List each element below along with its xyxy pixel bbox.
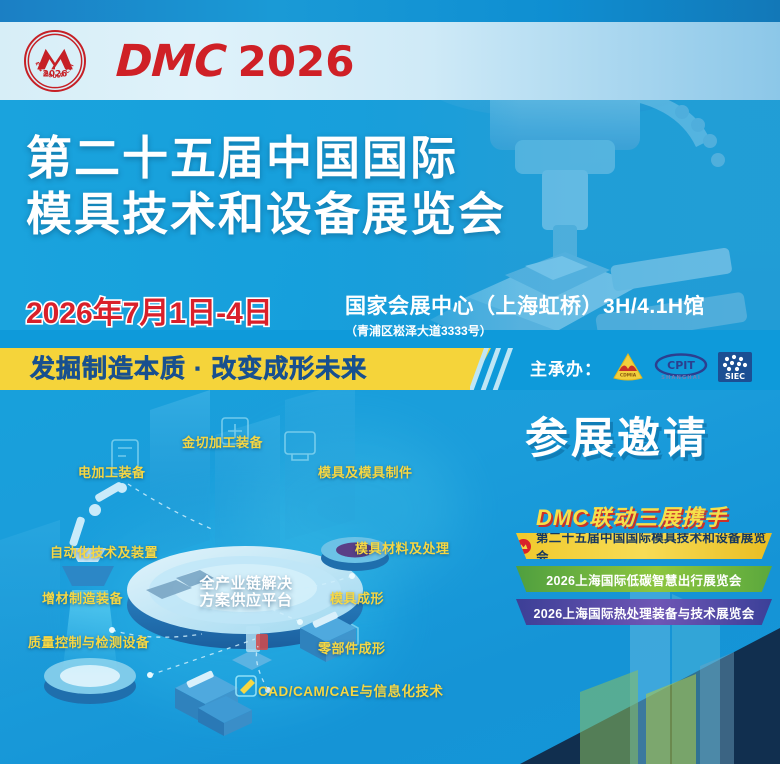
page-title: 第二十五届中国国际 模具技术和设备展览会	[26, 130, 506, 242]
headline-line-1: 第二十五届中国国际	[26, 130, 506, 186]
show-ribbon-low-carbon-label: 2026上海国际低碳智慧出行展览会	[546, 570, 741, 589]
organizers-row: 主承办： CDMIA CPIT SHANGHAI	[530, 352, 752, 382]
ccpit-shanghai-logo-icon: CPIT SHANGHAI	[654, 352, 708, 382]
svg-text:SIEC: SIEC	[725, 372, 745, 381]
tag-mould-forming: 模具成形	[330, 588, 384, 607]
tag-edm-equipment: 电加工装备	[78, 462, 146, 481]
event-info-bar: 2026年7月1日-4日 国家会展中心（上海虹桥）3H/4.1H馆 （青浦区崧泽…	[0, 282, 780, 344]
dmc-circular-logo-icon: 2026 DIE & MOULD CHINA	[24, 30, 86, 92]
show-ribbon-heat-treatment-label: 2026上海国际热处理装备与技术展览会	[533, 603, 754, 622]
tag-part-forming: 零部件成形	[318, 638, 386, 657]
dmc-wordmark-year: 2026	[238, 37, 355, 86]
dmc-wordmark: DMC 2026	[116, 36, 355, 87]
tag-metal-cutting-equipment: 金切加工装备	[182, 432, 263, 451]
platform-label-line-2: 方案供应平台	[176, 592, 316, 609]
tag-mould-materials: 模具材料及处理	[355, 538, 450, 557]
svg-text:CPIT: CPIT	[667, 359, 695, 372]
three-shows-title: DMC联动三展携手	[536, 500, 727, 532]
show-ribbon-dmc[interactable]: 第二十五届中国国际模具技术和设备展览会	[516, 533, 772, 559]
poster-header: 2026 DIE & MOULD CHINA DMC 2026	[0, 22, 780, 100]
dmc-wordmark-text: DMC	[115, 36, 227, 87]
organizers-label: 主承办：	[530, 355, 602, 380]
show-ribbon-low-carbon-mobility[interactable]: 2026上海国际低碳智慧出行展览会	[516, 566, 772, 592]
show-ribbon-heat-treatment[interactable]: 2026上海国际热处理装备与技术展览会	[516, 599, 772, 625]
venue-address: （青浦区崧泽大道3333号）	[345, 322, 705, 339]
slash-decoration	[470, 348, 530, 390]
svg-text:SHANGHAI: SHANGHAI	[661, 375, 701, 381]
siec-logo-icon: SIEC	[718, 352, 752, 382]
venue-name: 国家会展中心（上海虹桥）3H/4.1H馆	[345, 290, 705, 320]
slogan-text: 发掘制造本质 · 改变成形未来	[30, 349, 367, 389]
event-venue: 国家会展中心（上海虹桥）3H/4.1H馆 （青浦区崧泽大道3333号）	[345, 290, 705, 339]
event-date: 2026年7月1日-4日	[26, 288, 273, 332]
exhibition-poster: 2026 DIE & MOULD CHINA DMC 2026	[0, 0, 780, 764]
tag-cad-cam-cae: CAD/CAM/CAE与信息化技术	[258, 680, 444, 700]
tag-additive-manufacturing: 增材制造装备	[42, 588, 123, 607]
svg-text:CDMIA: CDMIA	[620, 373, 637, 379]
tag-automation-technology: 自动化技术及装置	[50, 542, 158, 561]
cdmia-logo-icon: CDMIA	[612, 352, 644, 382]
invitation-title: 参展邀请	[525, 404, 709, 466]
tag-mould-and-parts: 模具及模具制件	[318, 462, 413, 481]
tag-quality-inspection: 质量控制与检测设备	[28, 632, 150, 651]
platform-label-line-1: 全产业链解决	[176, 575, 316, 592]
platform-center-label: 全产业链解决 方案供应平台	[176, 575, 316, 610]
top-accent-strip	[0, 0, 780, 22]
headline-line-2: 模具技术和设备展览会	[26, 186, 506, 242]
